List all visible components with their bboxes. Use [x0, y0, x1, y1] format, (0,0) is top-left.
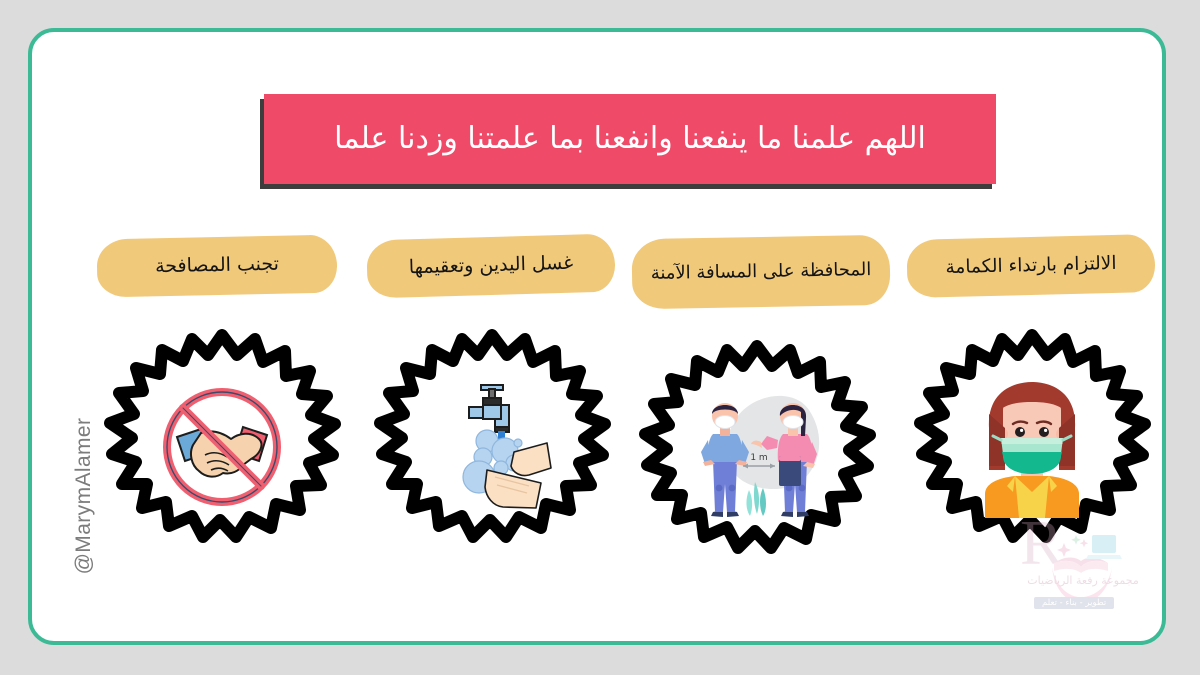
tip-label-box: المحافظة على المسافة الآمنة — [631, 235, 890, 309]
title-banner: اللهم علمنا ما ينفعنا وانفعنا بما علمتنا… — [264, 94, 996, 184]
handwashing-faucet-icon — [417, 367, 567, 517]
brand-logo: R مجموعة رفعة الرياضيات تطوير - بناء - ت… — [1018, 509, 1144, 613]
logo-tagline: تطوير - بناء - تعلم — [1034, 597, 1114, 609]
tip-label-text: غسل اليدين وتعقيمها — [408, 251, 573, 281]
slide-card: اللهم علمنا ما ينفعنا وانفعنا بما علمتنا… — [28, 28, 1166, 645]
tip-label-box: تجنب المصافحة — [96, 234, 337, 297]
masked-person-icon — [957, 366, 1107, 518]
tip-label-text: تجنب المصافحة — [155, 252, 279, 280]
tip-label-text: المحافظة على المسافة الآمنة — [651, 258, 872, 286]
logo-arabic-text: مجموعة رفعة الرياضيات — [1024, 574, 1142, 587]
starburst-badge: 1 m — [632, 340, 882, 566]
no-handshake-icon — [147, 367, 297, 517]
tip-label-box: غسل اليدين وتعقيمها — [366, 234, 616, 299]
title-banner-body: اللهم علمنا ما ينفعنا وانفعنا بما علمتنا… — [264, 94, 996, 184]
slide-canvas: اللهم علمنا ما ينفعنا وانفعنا بما علمتنا… — [0, 0, 1200, 675]
starburst-badge — [97, 329, 347, 555]
distance-label: 1 m — [750, 453, 767, 463]
title-banner-text: اللهم علمنا ما ينفعنا وانفعنا بما علمتنا… — [316, 121, 944, 157]
starburst-badge — [367, 329, 617, 555]
social-distancing-icon: 1 m — [675, 378, 839, 528]
tip-label-box: الالتزام بارتداء الكمامة — [906, 234, 1155, 298]
tip-column-avoid-handshake: تجنب المصافحة — [97, 237, 347, 557]
tip-column-wash-hands: غسل اليدين وتعقيمها — [367, 237, 617, 557]
watermark-username: @MarymAlamer — [72, 406, 96, 586]
tip-column-safe-distance: المحافظة على المسافة الآمنة — [632, 237, 882, 557]
tip-label-text: الالتزام بارتداء الكمامة — [945, 251, 1117, 280]
